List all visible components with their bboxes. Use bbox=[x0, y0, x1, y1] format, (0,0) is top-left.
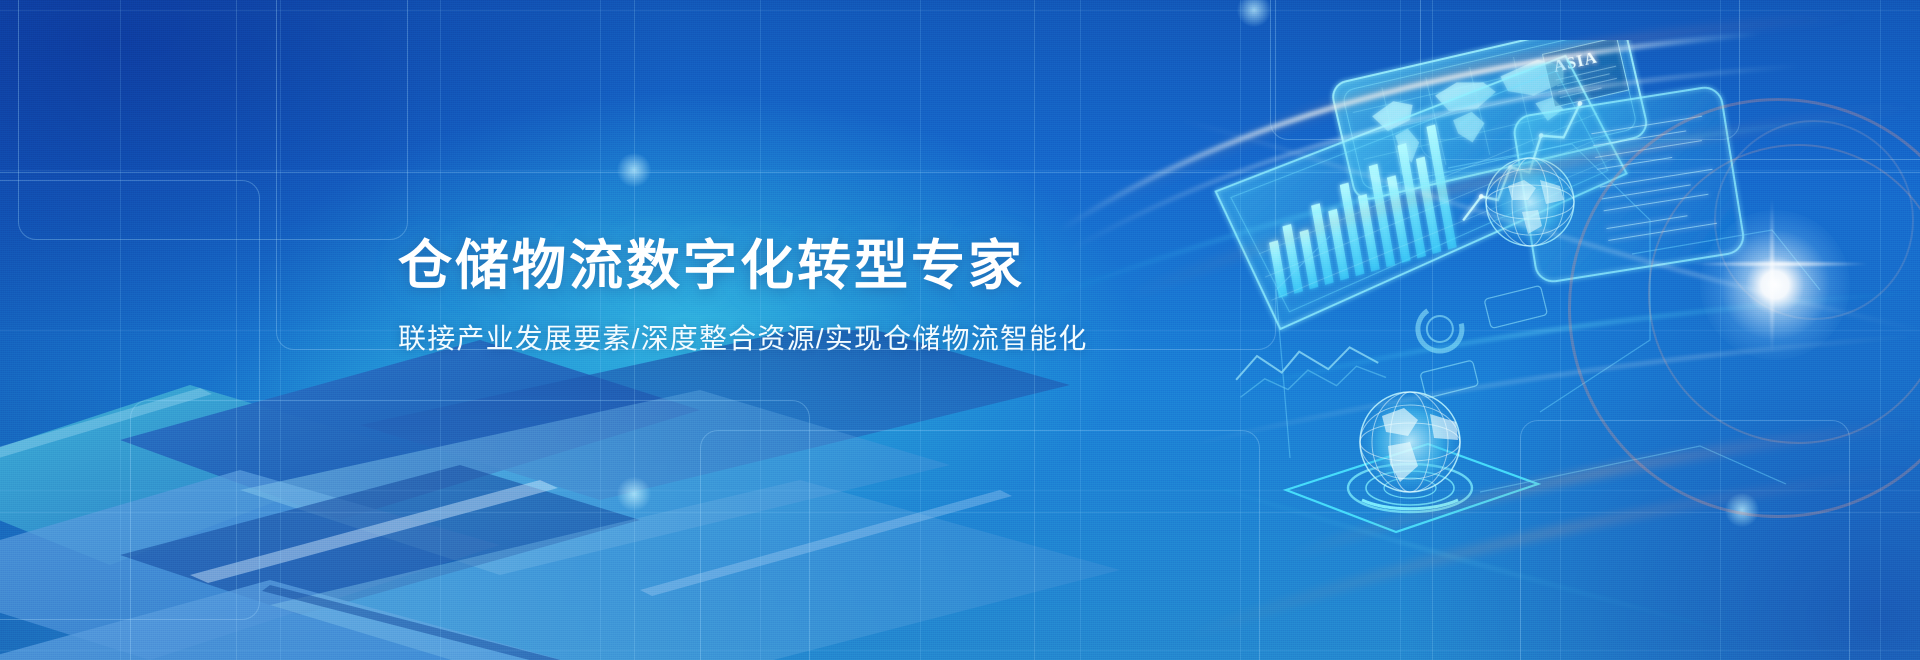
grid-vline-1 bbox=[236, 0, 237, 660]
page-title: 仓储物流数字化转型专家 bbox=[398, 238, 1298, 295]
wireframe-globe-icon bbox=[1486, 158, 1574, 246]
hero-copy-block: 仓储物流数字化转型专家 联接产业发展要素/深度整合资源/实现仓储物流智能化 bbox=[398, 238, 1298, 356]
globe-pedestal-group bbox=[1286, 392, 1538, 532]
grid-spark-4 bbox=[616, 476, 652, 512]
frame-bottom-center bbox=[700, 430, 1260, 660]
hud-gauge-group bbox=[1405, 282, 1560, 399]
hero-banner: ASIA bbox=[0, 0, 1920, 660]
grid-spark-1 bbox=[616, 152, 652, 188]
page-subtitle: 联接产业发展要素/深度整合资源/实现仓储物流智能化 bbox=[398, 321, 1298, 356]
